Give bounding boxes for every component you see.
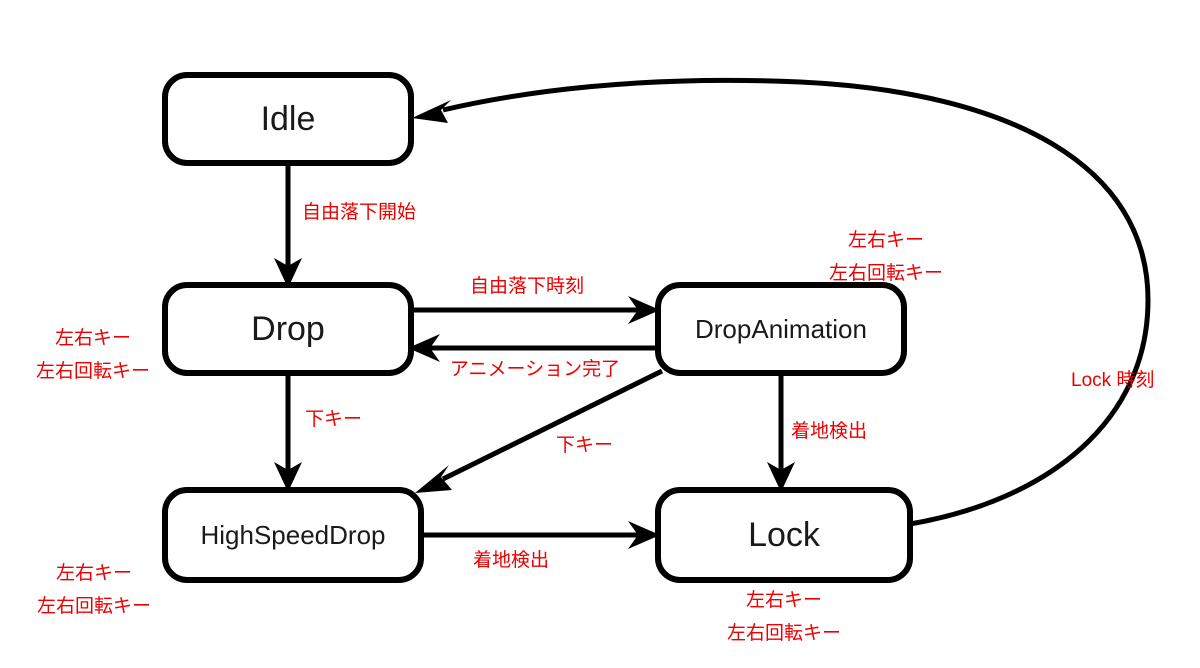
state-label-idle: Idle <box>261 100 316 138</box>
edge-drop-to-dropanimation <box>411 296 660 324</box>
state-label-drop: Drop <box>251 310 325 348</box>
edge-drop-to-highspeeddrop <box>274 373 302 492</box>
annotation-lock-keys-line2: 左右回転キー <box>727 622 841 644</box>
state-label-highspeeddrop: HighSpeedDrop <box>200 520 385 550</box>
state-node-highspeeddrop[interactable]: HighSpeedDrop <box>165 490 421 580</box>
edge-label-landing-detect-dropanimation: 着地検出 <box>791 420 867 442</box>
edge-dropanimation-to-highspeeddrop-line <box>443 371 662 479</box>
annotation-drop-keys-line1: 左右キー <box>55 327 131 349</box>
edge-dropanimation-to-drop <box>408 334 658 362</box>
diagram-svg: Idle Drop DropAnimation HighSpeedDrop Lo… <box>0 0 1200 668</box>
edge-label-down-key-dropanimation: 下キー <box>556 435 613 456</box>
edge-label-free-fall-time: 自由落下時刻 <box>470 275 584 297</box>
edge-idle-to-drop <box>274 163 302 288</box>
state-node-dropanimation[interactable]: DropAnimation <box>658 285 904 373</box>
edge-label-down-key-drop: 下キー <box>305 409 362 430</box>
state-label-lock: Lock <box>748 516 821 554</box>
annotation-highspeeddrop-keys-line2: 左右回転キー <box>37 595 151 617</box>
state-diagram-canvas: Idle Drop DropAnimation HighSpeedDrop Lo… <box>0 0 1200 668</box>
state-node-idle[interactable]: Idle <box>165 75 411 163</box>
edge-highspeeddrop-to-lock <box>421 521 660 549</box>
state-node-lock[interactable]: Lock <box>658 490 910 580</box>
state-label-dropanimation: DropAnimation <box>695 314 867 344</box>
annotation-dropanimation-keys-line1: 左右キー <box>848 229 924 251</box>
edge-label-animation-complete: アニメーション完了 <box>450 358 620 380</box>
annotation-highspeeddrop-keys-line1: 左右キー <box>56 562 132 584</box>
annotation-dropanimation-keys-line2: 左右回転キー <box>829 262 943 284</box>
state-node-drop[interactable]: Drop <box>165 285 411 373</box>
edge-dropanimation-to-highspeeddrop <box>415 371 662 493</box>
edge-label-landing-detect-highspeeddrop: 着地検出 <box>473 549 549 571</box>
annotation-lock-keys: 左右キー 左右回転キー <box>727 589 841 644</box>
annotation-drop-keys-line2: 左右回転キー <box>36 360 150 382</box>
annotation-drop-keys: 左右キー 左右回転キー <box>36 327 150 382</box>
annotation-highspeeddrop-keys: 左右キー 左右回転キー <box>37 562 151 617</box>
annotation-lock-keys-line1: 左右キー <box>746 589 822 611</box>
edge-label-free-fall-start: 自由落下開始 <box>302 201 416 223</box>
annotation-dropanimation-keys: 左右キー 左右回転キー <box>829 229 943 284</box>
edge-label-lock-time: Lock 時刻 <box>1071 369 1154 391</box>
